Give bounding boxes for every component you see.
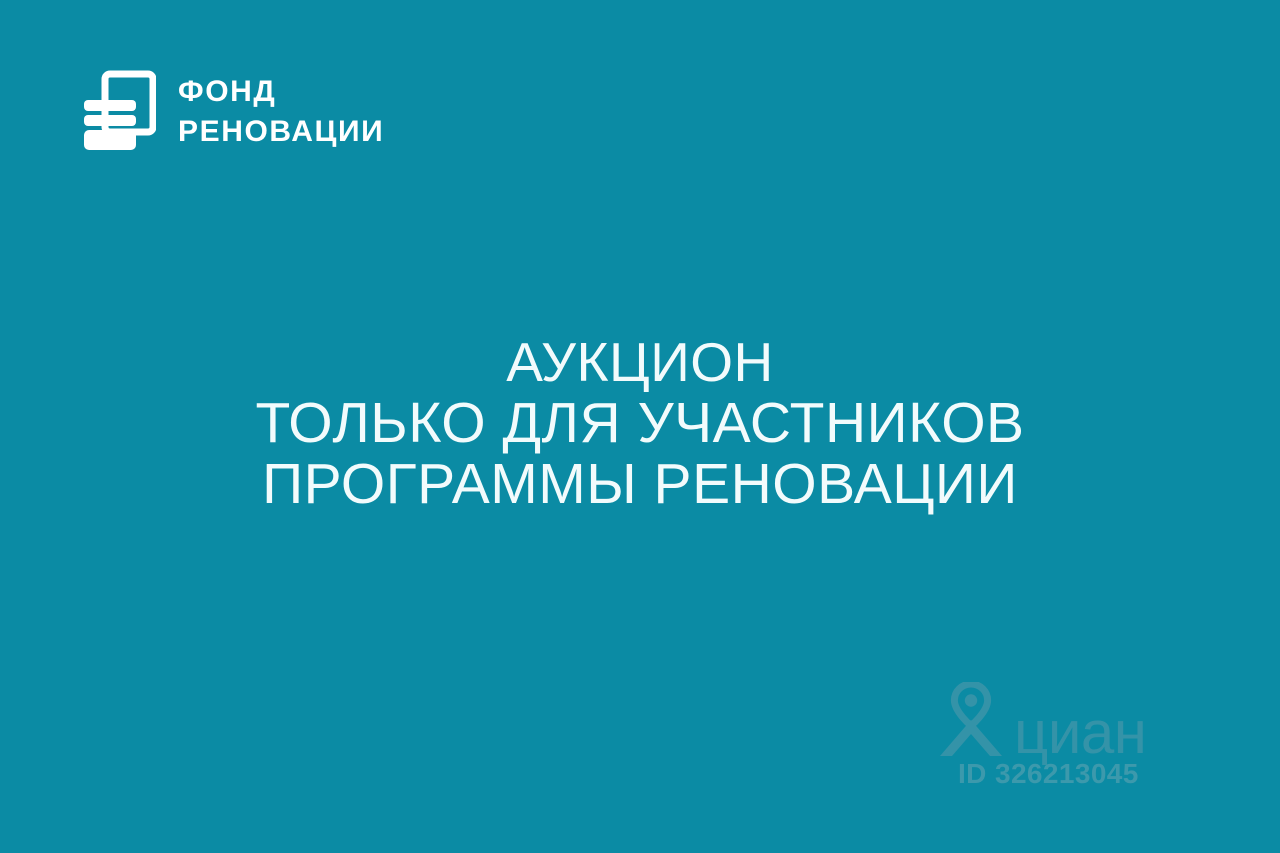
cian-logo: циан: [934, 682, 1146, 758]
cian-map-pin-roof-icon: [934, 682, 1008, 758]
cian-watermark: циан ID 326213045: [934, 682, 1170, 790]
listing-id-label: ID 326213045: [958, 758, 1139, 790]
headline-line-1: АУКЦИОН: [40, 332, 1240, 393]
auction-banner: ФОНД РЕНОВАЦИИ АУКЦИОН ТОЛЬКО ДЛЯ УЧАСТН…: [0, 0, 1280, 853]
brand-lockup: ФОНД РЕНОВАЦИИ: [84, 70, 384, 154]
brand-wordmark: ФОНД РЕНОВАЦИИ: [178, 73, 384, 152]
brand-line-renovatsii: РЕНОВАЦИИ: [178, 113, 384, 151]
cian-wordmark: циан: [1014, 705, 1146, 760]
fond-renovatsii-logo-mark: [84, 70, 156, 154]
headline-line-3: ПРОГРАММЫ РЕНОВАЦИИ: [40, 454, 1240, 515]
brand-line-fond: ФОНД: [178, 73, 384, 111]
headline-line-2: ТОЛЬКО ДЛЯ УЧАСТНИКОВ: [40, 393, 1240, 454]
headline-block: АУКЦИОН ТОЛЬКО ДЛЯ УЧАСТНИКОВ ПРОГРАММЫ …: [0, 332, 1280, 515]
